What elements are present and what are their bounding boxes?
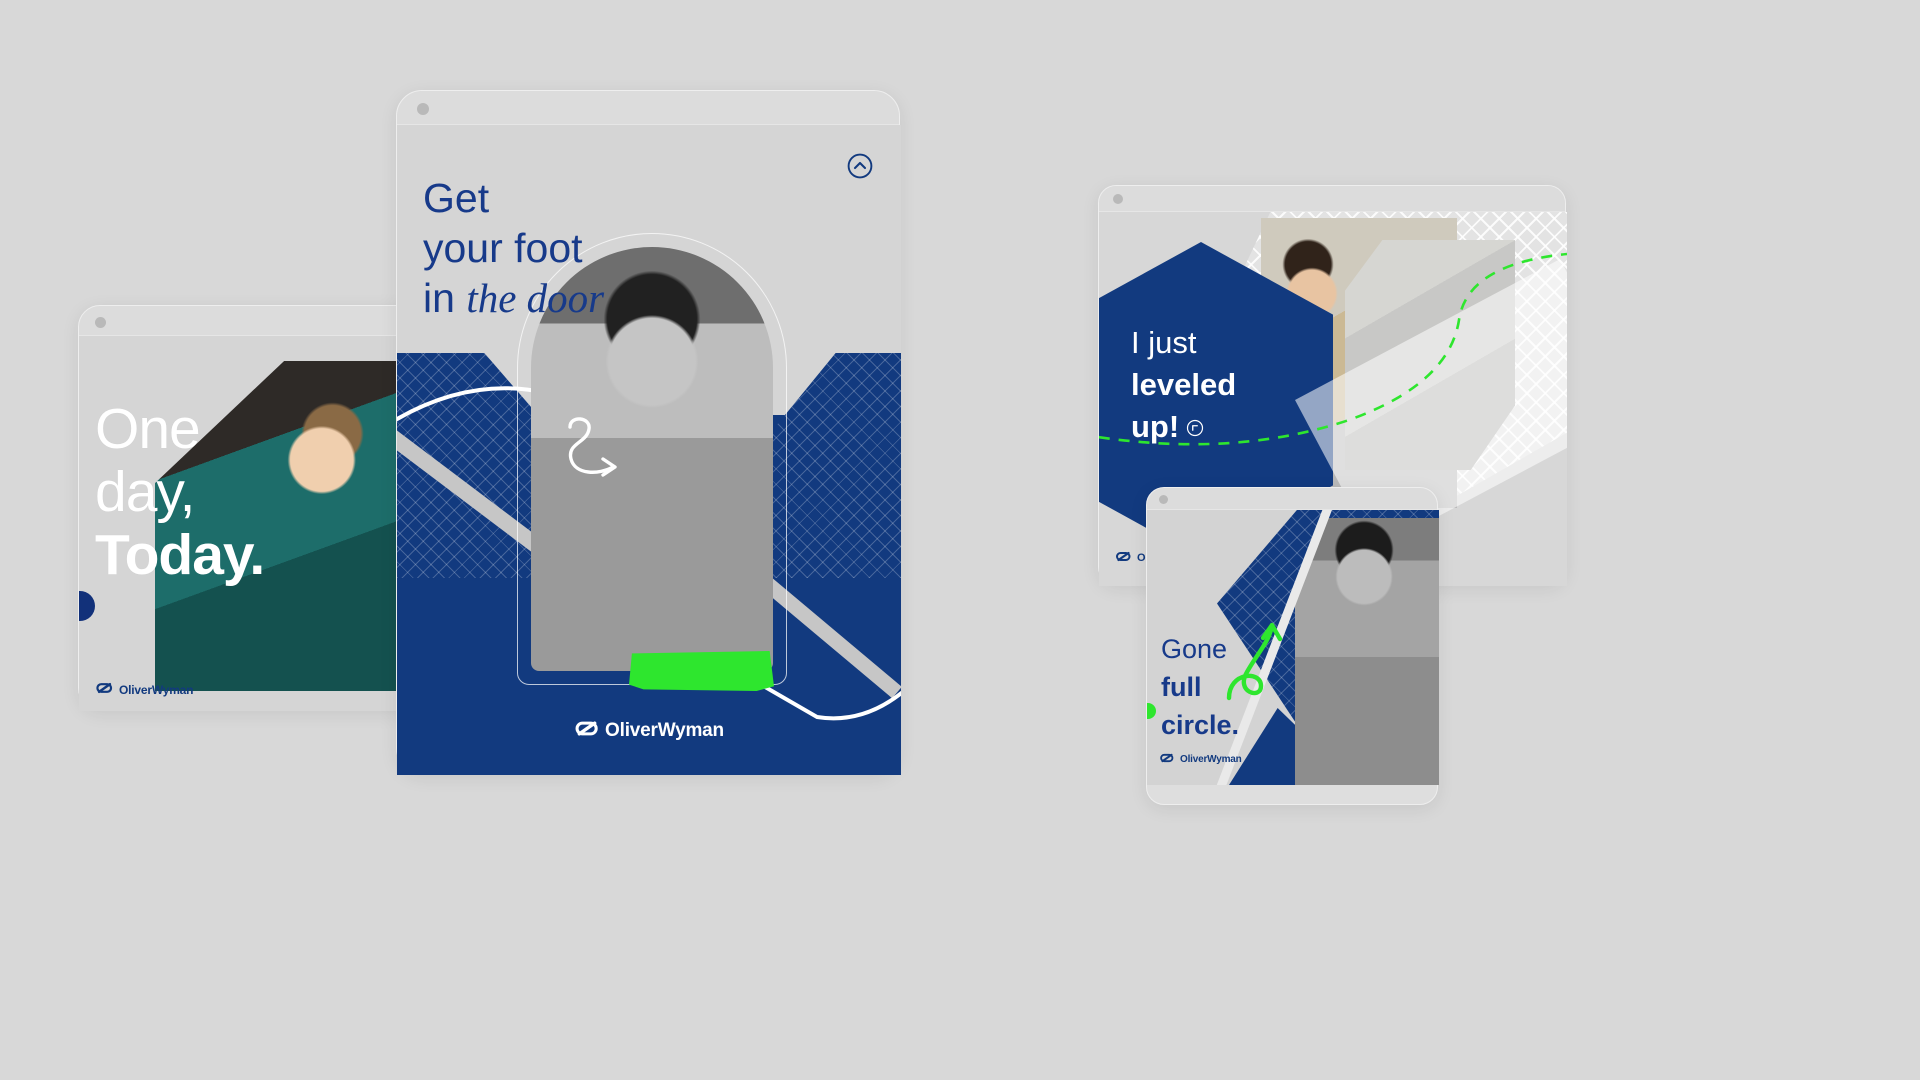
headline-line-1: Gone xyxy=(1161,630,1239,668)
oliverwyman-mark-icon xyxy=(95,681,114,699)
arrow-up-right-circle-icon[interactable] xyxy=(1186,406,1204,448)
card-headline-full-circle: Gone full circle. xyxy=(1161,630,1239,744)
oliverwyman-logo-one-day: OliverWyman xyxy=(95,681,193,699)
headline-line-3: up! xyxy=(1131,406,1179,448)
headline-line-3: circle. xyxy=(1161,706,1239,744)
oliverwyman-wordmark: OliverWyman xyxy=(605,720,724,742)
card-headline-leveled-up: I just leveled up! xyxy=(1131,322,1236,448)
frame-titlebar xyxy=(1099,186,1565,212)
headline-line-2: your foot xyxy=(423,223,604,273)
headline-line-3-italic: the door xyxy=(466,275,604,321)
device-frame-foot-in-door[interactable]: Get your foot in the door OliverWyman xyxy=(396,90,900,774)
headline-line-1: One xyxy=(95,398,264,461)
headline-line-2: leveled xyxy=(1131,364,1236,406)
card-headline-foot-in-door: Get your foot in the door xyxy=(423,173,604,323)
frame-dot-icon xyxy=(1113,194,1123,204)
photo-smiling-man-beard xyxy=(1295,518,1439,785)
oliverwyman-mark-icon xyxy=(574,720,600,742)
frame-dot-icon xyxy=(417,103,429,115)
headline-line-2: day, xyxy=(95,461,264,524)
frame-dot-icon xyxy=(95,317,106,328)
device-frame-one-day[interactable]: One day, Today. OliverWyman xyxy=(78,305,423,710)
oliverwyman-mark-icon xyxy=(1115,549,1132,567)
card-one-day[interactable]: One day, Today. OliverWyman xyxy=(79,336,424,711)
chevron-up-circle-icon[interactable] xyxy=(847,153,873,184)
frame-titlebar xyxy=(397,91,899,125)
frame-titlebar xyxy=(1147,488,1437,510)
oliverwyman-wordmark: OliverWyman xyxy=(1180,754,1242,765)
oliverwyman-logo-full-circle: OliverWyman xyxy=(1159,750,1242,768)
headline-line-1: Get xyxy=(423,173,604,223)
mockup-canvas: I just leveled up! xyxy=(0,0,1920,1080)
headline-line-3: Today. xyxy=(95,524,264,587)
oliverwyman-wordmark: OliverWyman xyxy=(119,683,193,697)
headline-line-1: I just xyxy=(1131,322,1236,364)
oliverwyman-logo-foot-in-door: OliverWyman xyxy=(397,720,901,742)
headline-line-3-plain: in xyxy=(423,275,466,321)
card-headline-one-day: One day, Today. xyxy=(95,398,264,587)
headline-line-2: full xyxy=(1161,668,1239,706)
green-tape-strip xyxy=(629,651,774,691)
device-frame-full-circle[interactable]: Gone full circle. OliverWyman xyxy=(1146,487,1438,805)
card-foot-in-door[interactable]: Get your foot in the door OliverWyman xyxy=(397,125,901,775)
card-full-circle[interactable]: Gone full circle. OliverWyman xyxy=(1147,510,1439,785)
frame-titlebar xyxy=(79,306,422,336)
oliverwyman-mark-icon xyxy=(1159,750,1175,768)
navy-dot-accent xyxy=(79,591,95,621)
oliverwyman-logo-inner: OliverWyman xyxy=(574,720,724,742)
frame-dot-icon xyxy=(1159,495,1168,504)
green-dot-accent xyxy=(1147,703,1156,719)
